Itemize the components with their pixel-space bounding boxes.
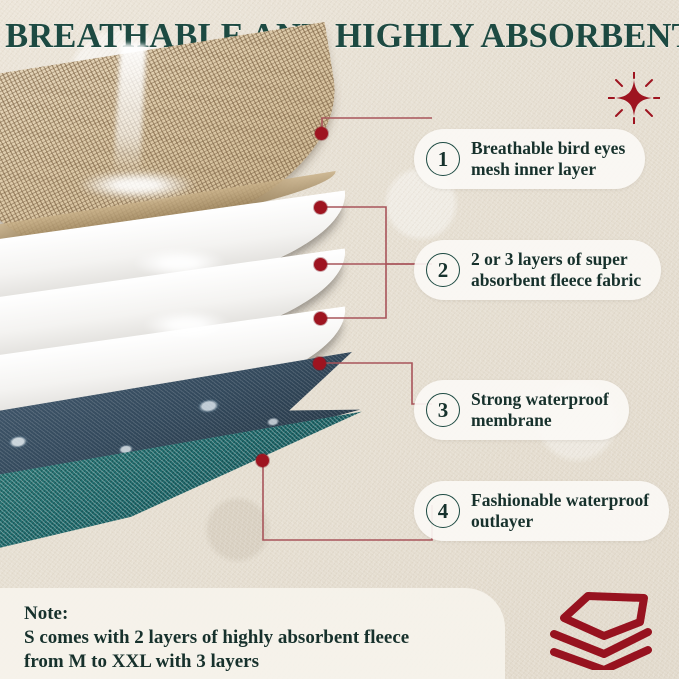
callout-4-number: 4 bbox=[426, 494, 460, 528]
callout-marker-dot-3 bbox=[313, 357, 326, 370]
callout-2[interactable]: 2 2 or 3 layers of super absorbent fleec… bbox=[414, 240, 661, 300]
callout-2-label: 2 or 3 layers of super absorbent fleece … bbox=[471, 249, 641, 291]
note-line-1: S comes with 2 layers of highly absorben… bbox=[24, 626, 505, 650]
callout-2-number: 2 bbox=[426, 253, 460, 287]
callout-3-label: Strong waterproof membrane bbox=[471, 389, 609, 431]
infographic-canvas: BREATHABLE AND HIGHLY ABSORBENT 1 Breat bbox=[0, 0, 679, 679]
callout-3[interactable]: 3 Strong waterproof membrane bbox=[414, 380, 629, 440]
callout-3-number: 3 bbox=[426, 393, 460, 427]
note-heading: Note: bbox=[24, 602, 505, 626]
callout-marker-dot-2c bbox=[314, 312, 327, 325]
callout-1[interactable]: 1 Breathable bird eyes mesh inner layer bbox=[414, 129, 645, 189]
callout-4-label: Fashionable waterproof outlayer bbox=[471, 490, 649, 532]
sparkle-icon bbox=[608, 72, 660, 124]
leader-lines bbox=[0, 0, 679, 679]
callout-marker-dot-1 bbox=[315, 127, 328, 140]
callout-1-label: Breathable bird eyes mesh inner layer bbox=[471, 138, 625, 180]
callout-marker-dot-2b bbox=[314, 258, 327, 271]
note-line-2: from M to XXL with 3 layers bbox=[24, 650, 505, 674]
note-panel: Note: S comes with 2 layers of highly ab… bbox=[0, 588, 505, 679]
callout-marker-dot-2a bbox=[314, 201, 327, 214]
callout-4[interactable]: 4 Fashionable waterproof outlayer bbox=[414, 481, 669, 541]
stacked-layers-logo-icon bbox=[548, 592, 658, 670]
callout-marker-dot-4 bbox=[256, 454, 269, 467]
callout-1-number: 1 bbox=[426, 142, 460, 176]
